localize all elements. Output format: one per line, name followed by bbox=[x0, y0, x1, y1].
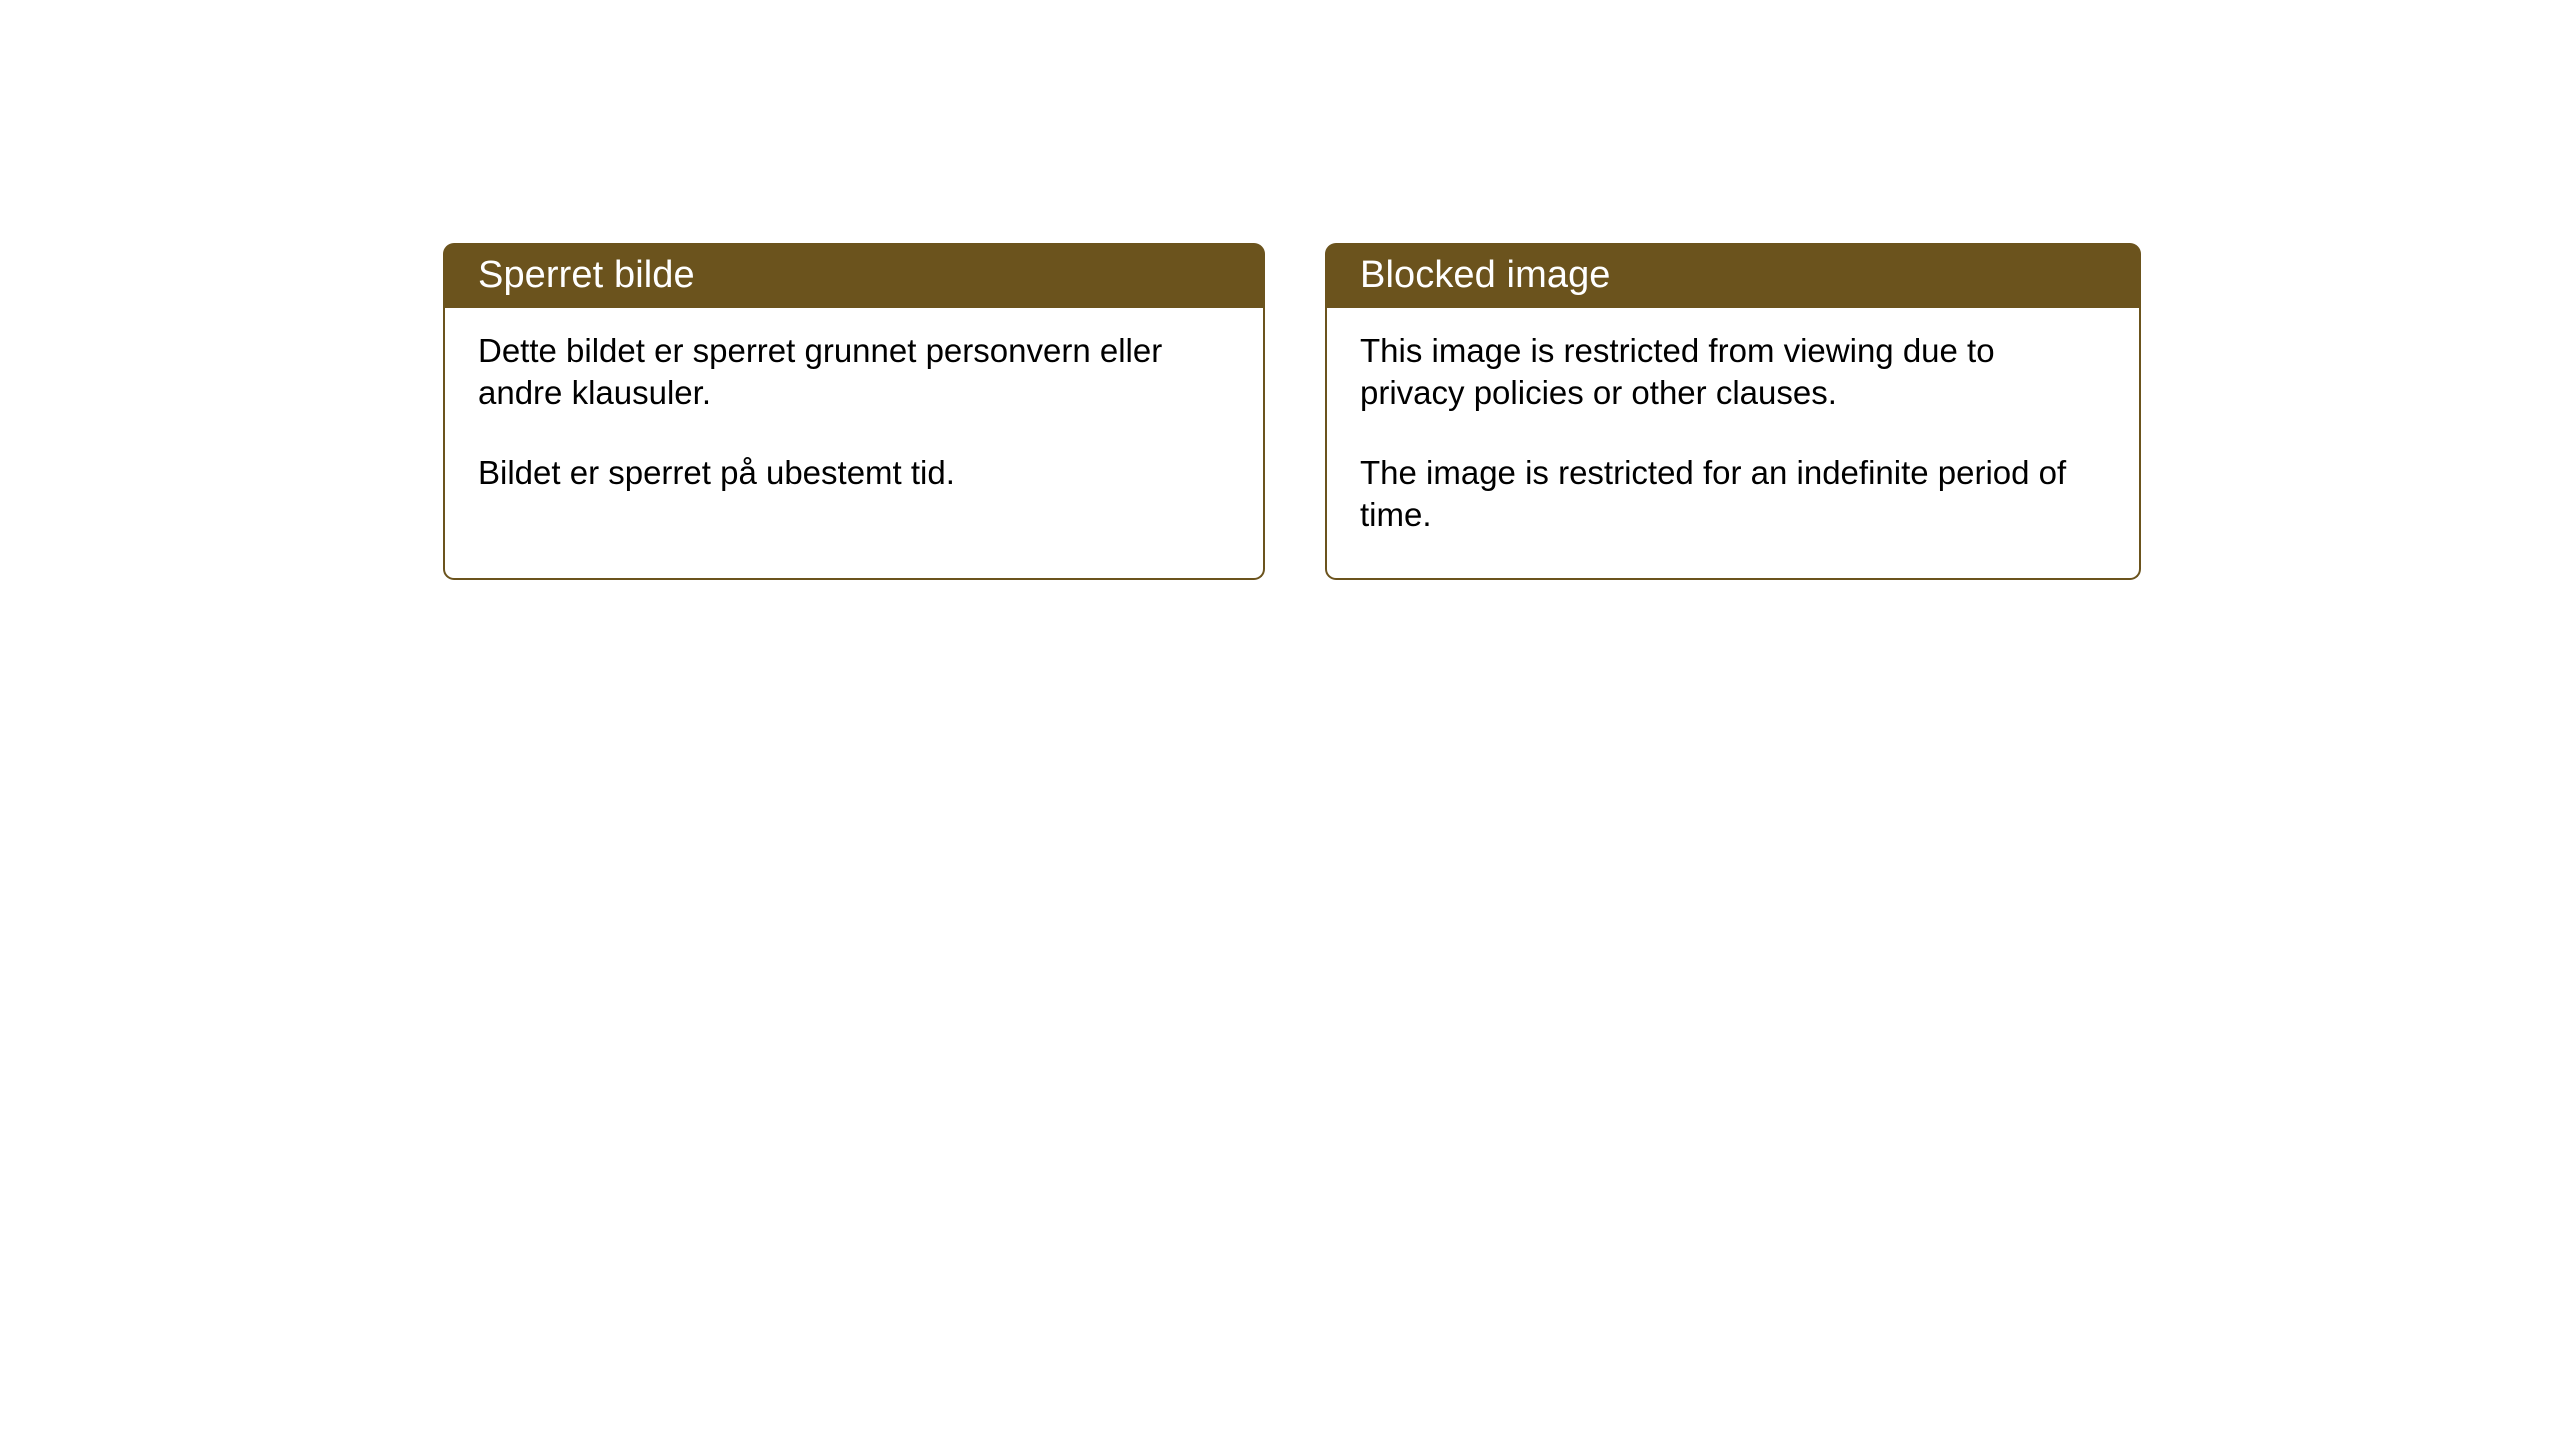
card-title-norwegian: Sperret bilde bbox=[478, 256, 695, 296]
blocked-image-card-english: Blocked image This image is restricted f… bbox=[1325, 243, 2141, 580]
card-paragraph: Dette bildet er sperret grunnet personve… bbox=[478, 330, 1229, 413]
card-paragraph: This image is restricted from viewing du… bbox=[1360, 330, 2105, 413]
blocked-image-notice-area: Sperret bilde Dette bildet er sperret gr… bbox=[443, 243, 2141, 580]
card-title-english: Blocked image bbox=[1360, 256, 1611, 296]
card-body-norwegian: Dette bildet er sperret grunnet personve… bbox=[443, 308, 1265, 580]
card-paragraph: Bildet er sperret på ubestemt tid. bbox=[478, 452, 1229, 494]
blocked-image-card-norwegian: Sperret bilde Dette bildet er sperret gr… bbox=[443, 243, 1265, 580]
card-header-norwegian: Sperret bilde bbox=[443, 243, 1265, 308]
card-header-english: Blocked image bbox=[1325, 243, 2141, 308]
card-body-english: This image is restricted from viewing du… bbox=[1325, 308, 2141, 580]
card-paragraph: The image is restricted for an indefinit… bbox=[1360, 452, 2105, 535]
